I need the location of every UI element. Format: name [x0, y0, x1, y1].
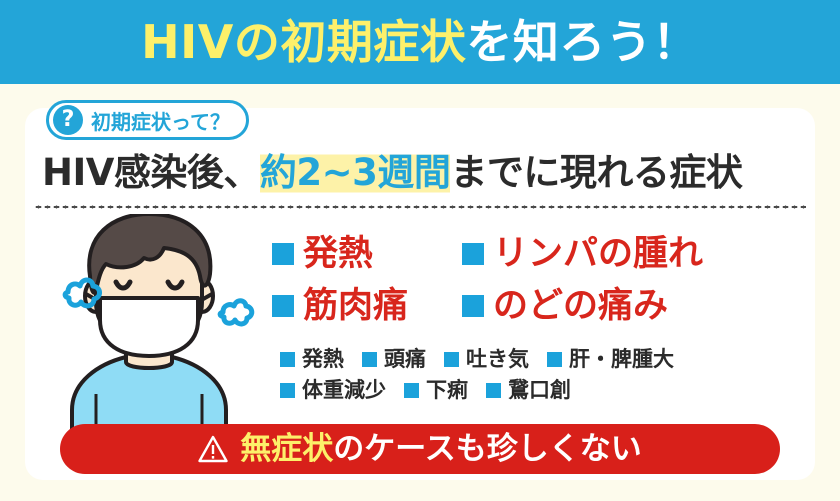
minor-symptom-label: 頭痛 [384, 349, 426, 370]
headline-part2: までに現れる症状 [450, 151, 742, 194]
headline-part1: HIV感染後、 [42, 151, 260, 194]
minor-symptom-item: 発熱 [280, 349, 344, 370]
footer-warning-accent: 無症状 [240, 431, 333, 467]
minor-symptom-item: 頭痛 [362, 349, 426, 370]
page-title-rest: を知ろう！ [466, 15, 699, 69]
square-bullet-icon [486, 383, 501, 398]
minor-symptom-item: 体重減少 [280, 380, 386, 401]
footer-warning-rest: のケースも珍しくない [333, 431, 641, 467]
square-bullet-icon [362, 352, 377, 367]
main-symptom-item: のどの痛み [462, 289, 668, 324]
main-symptom-list: 発熱 リンパの腫れ 筋肉痛 のどの痛み [272, 228, 832, 332]
square-bullet-icon [272, 295, 294, 317]
square-bullet-icon [547, 352, 562, 367]
page-title-accent: HIVの初期症状 [141, 15, 466, 69]
square-bullet-icon [272, 243, 294, 265]
main-symptom-label: 発熱 [303, 237, 373, 272]
main-symptom-row: 筋肉痛 のどの痛み [272, 280, 832, 332]
square-bullet-icon [462, 243, 484, 265]
minor-symptom-label: 体重減少 [302, 380, 386, 401]
page-title: HIVの初期症状を知ろう！ [141, 19, 699, 65]
minor-symptom-item: 鵞口創 [486, 380, 571, 401]
main-symptom-item: リンパの腫れ [462, 237, 703, 272]
minor-symptom-row: 発熱 頭痛 吐き気 肝・脾腫大 [280, 344, 840, 375]
main-symptom-label: のどの痛み [493, 289, 668, 324]
square-bullet-icon [444, 352, 459, 367]
minor-symptom-label: 肝・脾腫大 [569, 349, 674, 370]
minor-symptom-list: 発熱 頭痛 吐き気 肝・脾腫大 体重減少 下痢 [280, 344, 840, 406]
main-symptom-row: 発熱 リンパの腫れ [272, 228, 832, 280]
footer-warning-banner: 無症状のケースも珍しくない [60, 424, 780, 474]
question-badge: ? 初期症状って？ [46, 100, 249, 140]
minor-symptom-label: 鵞口創 [508, 380, 571, 401]
infographic-root: HIVの初期症状を知ろう！ ? 初期症状って？ HIV感染後、約2~3週間までに… [0, 0, 840, 501]
warning-triangle-icon [198, 435, 228, 463]
minor-symptom-item: 下痢 [404, 380, 468, 401]
person-wearing-mask-illustration [60, 214, 275, 432]
dotted-divider [34, 205, 806, 209]
square-bullet-icon [280, 352, 295, 367]
main-symptom-label: リンパの腫れ [493, 237, 703, 272]
square-bullet-icon [404, 383, 419, 398]
square-bullet-icon [462, 295, 484, 317]
main-symptom-label: 筋肉痛 [303, 289, 408, 324]
main-symptom-item: 発熱 [272, 237, 462, 272]
headline-highlight: 約2~3週間 [260, 151, 451, 194]
square-bullet-icon [280, 383, 295, 398]
minor-symptom-label: 発熱 [302, 349, 344, 370]
headline: HIV感染後、約2~3週間までに現れる症状 [42, 152, 802, 195]
minor-symptom-label: 吐き気 [466, 349, 529, 370]
footer-warning-text: 無症状のケースも珍しくない [240, 434, 641, 465]
question-mark-icon: ? [53, 105, 83, 135]
minor-symptom-item: 吐き気 [444, 349, 529, 370]
main-symptom-item: 筋肉痛 [272, 289, 462, 324]
minor-symptom-label: 下痢 [426, 380, 468, 401]
question-badge-label: 初期症状って？ [91, 106, 230, 135]
header-banner: HIVの初期症状を知ろう！ [0, 0, 840, 84]
minor-symptom-row: 体重減少 下痢 鵞口創 [280, 375, 840, 406]
minor-symptom-item: 肝・脾腫大 [547, 349, 674, 370]
